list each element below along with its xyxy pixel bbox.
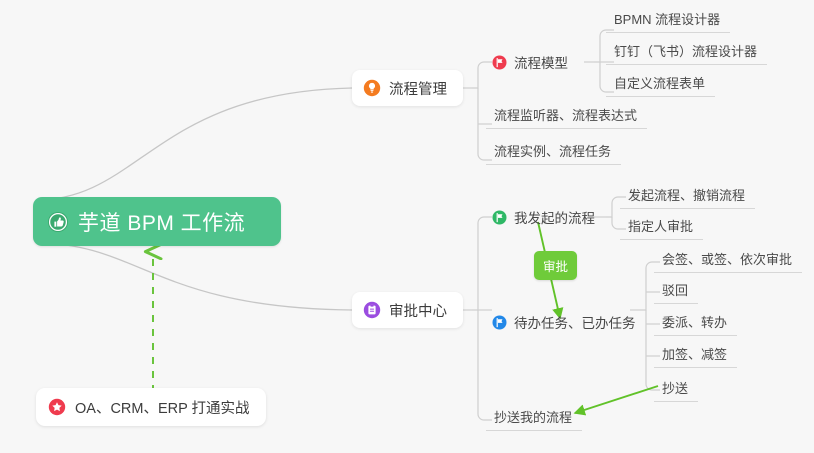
arrow-cc-to-cc-my-process: [575, 386, 658, 413]
flag-icon: [492, 55, 507, 70]
leaf-designated-approver[interactable]: 指定人审批: [620, 219, 703, 240]
annotation-approval-pill: 审批: [534, 251, 577, 280]
connector-ac-trunk-up: [472, 217, 492, 310]
node-process-model[interactable]: 流程模型: [492, 50, 568, 74]
connector-root-to-process-management: [36, 88, 352, 200]
flag-icon: [492, 315, 507, 330]
node-label-todo-done-tasks: 待办任务、已办任务: [514, 312, 636, 332]
branch-node-process-management[interactable]: 流程管理: [352, 70, 463, 106]
leaf-reject[interactable]: 驳回: [654, 283, 698, 304]
thumbs-up-icon: [47, 211, 69, 233]
leaf-add-remove-sign[interactable]: 加签、减签: [654, 347, 737, 368]
branch-label-approval-center: 审批中心: [389, 300, 447, 321]
connector-pm-trunk: [472, 62, 492, 88]
branch-label-process-management: 流程管理: [389, 78, 447, 99]
leaf-custom-process-form[interactable]: 自定义流程表单: [606, 76, 715, 97]
node-my-started-processes[interactable]: 我发起的流程: [492, 205, 595, 229]
connector-ac-trunk-down: [478, 310, 492, 420]
leaf-process-listener-expression[interactable]: 流程监听器、流程表达式: [486, 108, 647, 129]
root-node[interactable]: 芋道 BPM 工作流: [33, 197, 281, 246]
leaf-dingtalk-feishu-designer[interactable]: 钉钉（飞书）流程设计器: [606, 44, 767, 65]
root-label: 芋道 BPM 工作流: [78, 207, 245, 237]
leaf-countersign-orsign-sequential[interactable]: 会签、或签、依次审批: [654, 252, 802, 273]
node-todo-done-tasks[interactable]: 待办任务、已办任务: [492, 310, 636, 334]
node-label-process-model: 流程模型: [514, 52, 568, 72]
star-icon: [48, 398, 66, 416]
node-label-my-started-processes: 我发起的流程: [514, 207, 595, 227]
clipboard-icon: [363, 301, 381, 319]
leaf-cc-my-processes[interactable]: 抄送我的流程: [486, 410, 582, 431]
note-label: OA、CRM、ERP 打通实战: [75, 397, 250, 418]
connector-root-to-approval-center: [36, 243, 352, 310]
lightbulb-pin-icon: [363, 79, 381, 97]
leaf-carbon-copy[interactable]: 抄送: [654, 381, 698, 402]
flag-icon: [492, 210, 507, 225]
mindmap-canvas: 芋道 BPM 工作流 流程管理 流程模型 BPMN 流程设计器 钉钉（飞书）流程…: [0, 0, 814, 453]
leaf-bpmn-designer[interactable]: BPMN 流程设计器: [606, 12, 730, 33]
note-card-integration[interactable]: OA、CRM、ERP 打通实战: [36, 388, 266, 426]
leaf-process-instance-task[interactable]: 流程实例、流程任务: [486, 144, 621, 165]
leaf-delegate-transfer[interactable]: 委派、转办: [654, 315, 737, 336]
branch-node-approval-center[interactable]: 审批中心: [352, 292, 463, 328]
leaf-start-cancel-process[interactable]: 发起流程、撤销流程: [620, 188, 755, 209]
